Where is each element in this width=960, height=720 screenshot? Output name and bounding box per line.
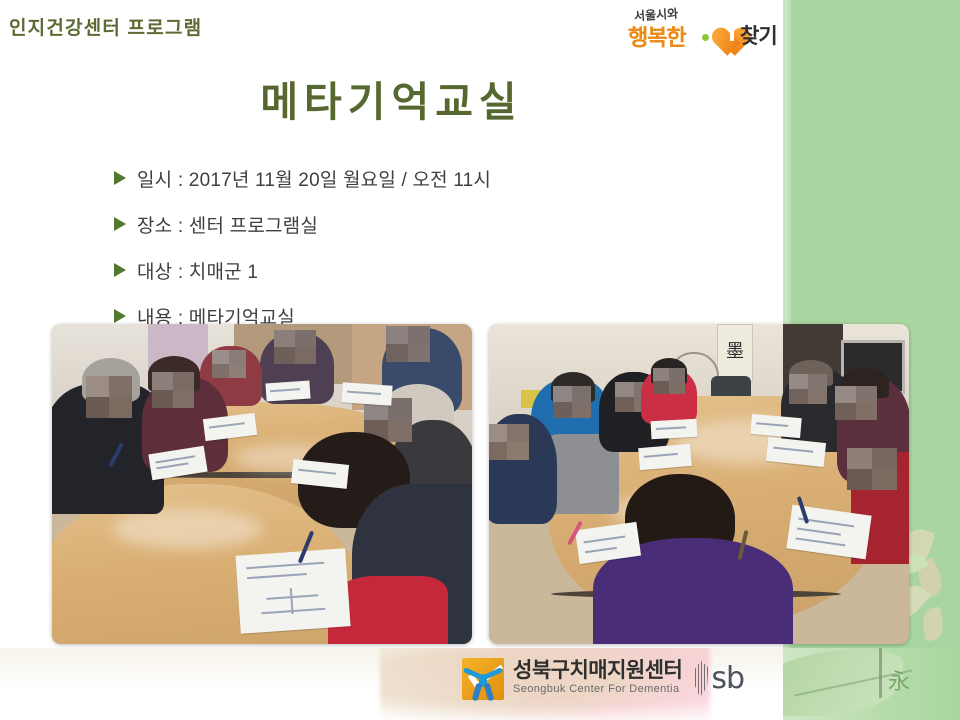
list-item: 일시 : 2017년 11월 20일 월요일 / 오전 11시 bbox=[114, 155, 734, 201]
list-item-text: 대상 : 치매군 1 bbox=[137, 257, 258, 284]
pixelated-face bbox=[152, 372, 194, 408]
seoul-logo-line-2: 행복한 bbox=[628, 20, 686, 52]
brush-stem-decoration bbox=[879, 648, 882, 698]
brand-text-block: 성북구치매지원센터 Seongbuk Center For Dementia bbox=[513, 660, 682, 697]
triangle-bullet-icon bbox=[114, 309, 126, 323]
photo-left bbox=[52, 324, 472, 644]
green-dot-icon bbox=[702, 34, 709, 41]
emblem-leg-right bbox=[484, 683, 495, 702]
worksheet bbox=[341, 382, 392, 405]
photo-right: 墨 bbox=[489, 324, 909, 644]
program-kicker: 인지건강센터 프로그램 bbox=[9, 13, 202, 40]
triangle-bullet-icon bbox=[114, 263, 126, 277]
pixelated-face bbox=[386, 326, 430, 362]
list-item: 장소 : 센터 프로그램실 bbox=[114, 201, 734, 247]
heart-giyeok-glyph bbox=[717, 20, 734, 41]
worksheet bbox=[638, 444, 692, 470]
pixelated-face bbox=[835, 386, 877, 420]
sb-submark: sb bbox=[692, 661, 744, 697]
page-title: 메타기억교실 bbox=[0, 68, 783, 128]
petal-shape bbox=[920, 607, 945, 642]
slide-canvas: 인지건강센터 프로그램 메타기억교실 서울시와 행복한 찾기 일시 : 2017… bbox=[0, 0, 960, 720]
calligraphy-character: 永 bbox=[888, 664, 910, 696]
triangle-bullet-icon bbox=[114, 217, 126, 231]
triangle-bullet-icon bbox=[114, 171, 126, 185]
brand-name-korean: 성북구치매지원센터 bbox=[513, 660, 682, 682]
seoul-happy-logo: 서울시와 행복한 찾기 bbox=[628, 6, 780, 52]
worksheet bbox=[651, 419, 698, 439]
photo-right-scene: 墨 bbox=[489, 324, 909, 644]
table-highlight bbox=[112, 509, 262, 549]
list-item-text: 장소 : 센터 프로그램실 bbox=[137, 211, 318, 238]
center-brand-logo: 성북구치매지원센터 Seongbuk Center For Dementia s… bbox=[462, 656, 744, 702]
brand-name-english: Seongbuk Center For Dementia bbox=[513, 682, 682, 697]
pixelated-face bbox=[653, 368, 685, 394]
worksheet bbox=[265, 380, 310, 401]
pixelated-face bbox=[212, 350, 246, 378]
pixelated-face bbox=[274, 330, 316, 364]
worksheet bbox=[750, 414, 802, 438]
list-item-text: 일시 : 2017년 11월 20일 월요일 / 오전 11시 bbox=[137, 165, 491, 192]
footer-green-band: 永 bbox=[783, 648, 960, 720]
feather-icon bbox=[692, 661, 708, 697]
pixelated-face bbox=[86, 376, 132, 418]
emblem-person-shape bbox=[464, 671, 502, 699]
list-item: 대상 : 치매군 1 bbox=[114, 247, 734, 293]
wall-calligraphy: 墨 bbox=[717, 324, 753, 382]
detail-list: 일시 : 2017년 11월 20일 월요일 / 오전 11시 장소 : 센터 … bbox=[114, 155, 734, 339]
pixelated-face bbox=[789, 374, 827, 404]
pixelated-face bbox=[489, 424, 529, 460]
emblem-leg-left bbox=[472, 683, 483, 702]
sb-wordmark: sb bbox=[711, 664, 744, 694]
worksheet bbox=[235, 548, 350, 633]
pixelated-face bbox=[553, 386, 591, 418]
orange-heart-icon bbox=[704, 12, 740, 45]
photo-left-scene bbox=[52, 324, 472, 644]
seoul-logo-line-3: 찾기 bbox=[740, 20, 777, 50]
pixelated-face bbox=[847, 448, 897, 490]
seongbuk-emblem-icon bbox=[462, 658, 504, 700]
